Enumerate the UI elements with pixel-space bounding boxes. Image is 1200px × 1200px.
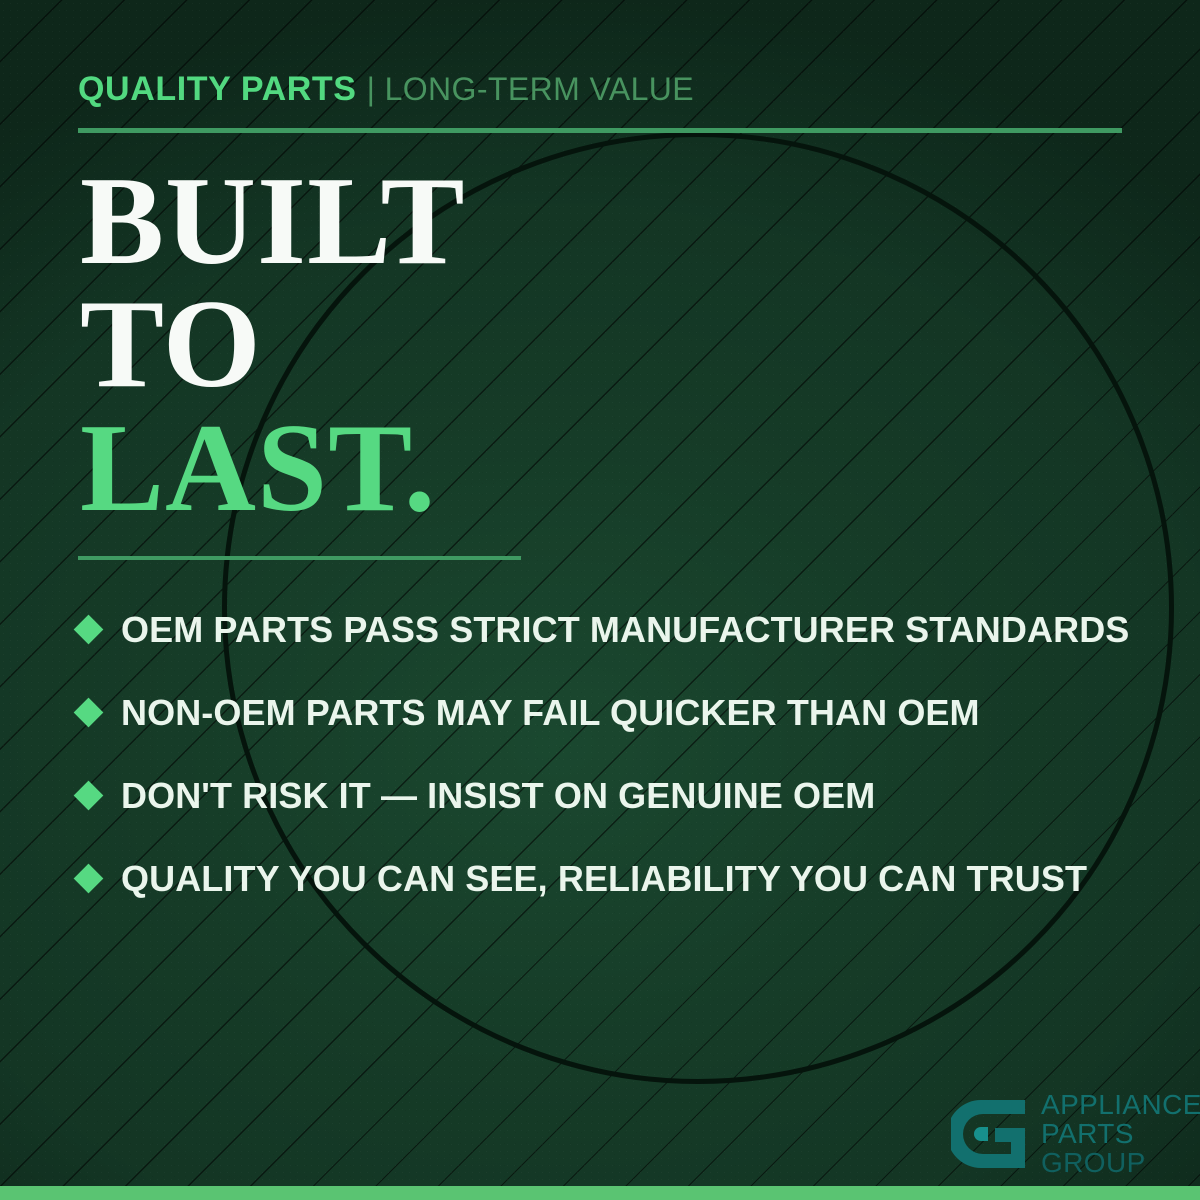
headline-line-2: TO [80, 283, 466, 406]
diamond-bullet-icon [74, 781, 104, 811]
bottom-accent-bar [0, 1186, 1200, 1200]
eyebrow-kicker: QUALITY PARTS [78, 70, 357, 108]
list-item-label: NON-OEM PARTS MAY FAIL QUICKER THAN OEM [121, 692, 980, 734]
list-item-label: DON'T RISK IT — INSIST ON GENUINE OEM [121, 775, 875, 817]
eyebrow-subtitle: | LONG-TERM VALUE [367, 71, 694, 107]
diamond-bullet-icon [74, 615, 104, 645]
headline-divider-rule [78, 556, 521, 560]
diamond-bullet-icon [74, 698, 104, 728]
list-item: DON'T RISK IT — INSIST ON GENUINE OEM [78, 754, 1148, 837]
header-divider-rule [78, 128, 1122, 133]
logo-line-1: APPLIANCE [1041, 1090, 1200, 1119]
list-item: NON-OEM PARTS MAY FAIL QUICKER THAN OEM [78, 671, 1148, 754]
logo-line-2: PARTS [1041, 1119, 1200, 1148]
diamond-bullet-icon [74, 864, 104, 894]
headline-line-3: LAST. [80, 407, 466, 530]
list-item: OEM PARTS PASS STRICT MANUFACTURER STAND… [78, 588, 1148, 671]
headline-line-1: BUILT [80, 160, 466, 283]
g-monogram-icon [951, 1094, 1031, 1174]
eyebrow-header: QUALITY PARTS| LONG-TERM VALUE [78, 72, 694, 106]
logo-line-3: GROUP [1041, 1148, 1200, 1177]
benefits-list: OEM PARTS PASS STRICT MANUFACTURER STAND… [78, 588, 1148, 920]
brand-logo-wordmark: APPLIANCE PARTS GROUP [1041, 1090, 1200, 1177]
list-item-label: QUALITY YOU CAN SEE, RELIABILITY YOU CAN… [121, 858, 1087, 900]
poster-canvas: QUALITY PARTS| LONG-TERM VALUE BUILT TO … [0, 0, 1200, 1200]
headline-block: BUILT TO LAST. [80, 160, 466, 530]
list-item-label: OEM PARTS PASS STRICT MANUFACTURER STAND… [121, 609, 1129, 651]
brand-logo: APPLIANCE PARTS GROUP [951, 1090, 1200, 1177]
list-item: QUALITY YOU CAN SEE, RELIABILITY YOU CAN… [78, 837, 1148, 920]
